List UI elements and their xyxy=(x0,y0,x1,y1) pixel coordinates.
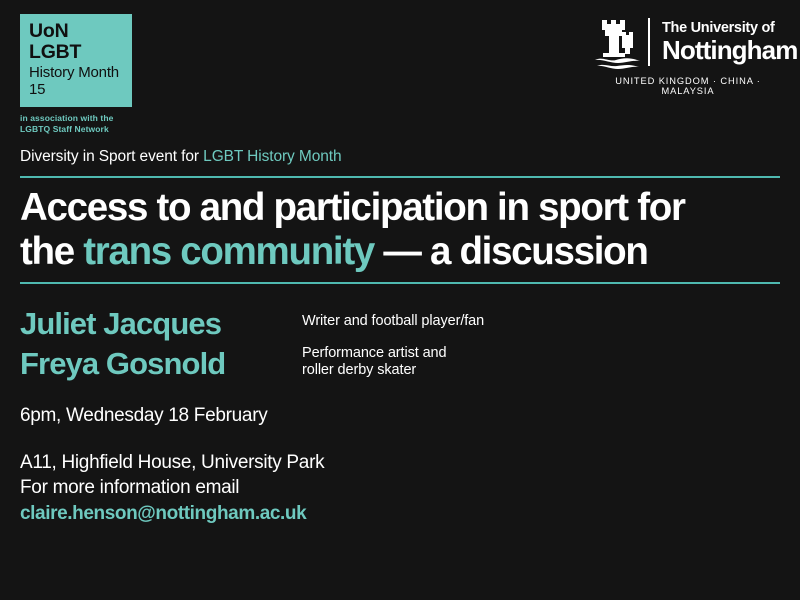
speaker-role-2-line1: Performance artist and xyxy=(302,345,484,363)
university-of-nottingham-logo: The University of Nottingham UNITED KING… xyxy=(592,13,784,96)
headline-accent: trans community xyxy=(83,230,374,273)
lgbt-logo-badge: UoN LGBT History Month 15 xyxy=(20,14,132,107)
speaker-name-2: Freya Gosnold xyxy=(20,344,302,384)
uon-logo-row: The University of Nottingham xyxy=(592,13,784,71)
contact-email-link[interactable]: claire.henson@nottingham.ac.uk xyxy=(20,501,780,526)
uon-name-line1: The University of xyxy=(662,21,797,36)
event-venue: A11, Highfield House, University Park xyxy=(20,450,780,475)
headline-line2-prefix: the xyxy=(20,230,83,273)
lgbt-logo-line1: UoN LGBT xyxy=(29,21,123,63)
speaker-roles-column: Writer and football player/fan Performan… xyxy=(302,304,484,380)
divider-top xyxy=(20,176,780,178)
event-location-block: A11, Highfield House, University Park Fo… xyxy=(20,450,780,526)
lgbt-history-month-logo: UoN LGBT History Month 15 in association… xyxy=(20,14,132,136)
poster-header: UoN LGBT History Month 15 in association… xyxy=(0,0,800,110)
lgbt-assoc-line2: LGBTQ Staff Network xyxy=(20,124,132,135)
event-eyebrow: Diversity in Sport event for LGBT Histor… xyxy=(20,148,780,165)
speaker-role-1: Writer and football player/fan xyxy=(302,313,484,331)
headline-line2-suffix: — a discussion xyxy=(374,230,648,273)
speaker-role-1-line1: Writer and football player/fan xyxy=(302,313,484,331)
divider-bottom xyxy=(20,282,780,284)
lgbt-logo-association: in association with the LGBTQ Staff Netw… xyxy=(20,113,132,136)
uon-logo-wordmark: The University of Nottingham xyxy=(662,21,797,64)
nottingham-castle-crest-icon xyxy=(592,14,644,70)
page-title: Access to and participation in sport for… xyxy=(20,186,780,273)
event-poster: UoN LGBT History Month 15 in association… xyxy=(0,0,800,600)
uon-campus-countries: UNITED KINGDOM · CHINA · MALAYSIA xyxy=(592,76,784,96)
event-datetime: 6pm, Wednesday 18 February xyxy=(20,405,780,428)
speaker-role-2: Performance artist and roller derby skat… xyxy=(302,345,484,380)
eyebrow-prefix: Diversity in Sport event for xyxy=(20,148,203,165)
speaker-role-2-line2: roller derby skater xyxy=(302,362,484,380)
uon-name-line2: Nottingham xyxy=(662,37,797,63)
speaker-name-1: Juliet Jacques xyxy=(20,304,302,344)
eyebrow-accent: LGBT History Month xyxy=(203,148,341,165)
contact-prompt: For more information email xyxy=(20,475,780,500)
poster-content: Diversity in Sport event for LGBT Histor… xyxy=(0,148,800,526)
speaker-names-column: Juliet Jacques Freya Gosnold xyxy=(20,304,302,383)
lgbt-assoc-line1: in association with the xyxy=(20,113,132,124)
lgbt-logo-line2: History Month 15 xyxy=(29,65,123,99)
headline-line1: Access to and participation in sport for xyxy=(20,186,685,229)
speakers-section: Juliet Jacques Freya Gosnold Writer and … xyxy=(20,304,780,383)
uon-logo-divider xyxy=(648,18,650,66)
